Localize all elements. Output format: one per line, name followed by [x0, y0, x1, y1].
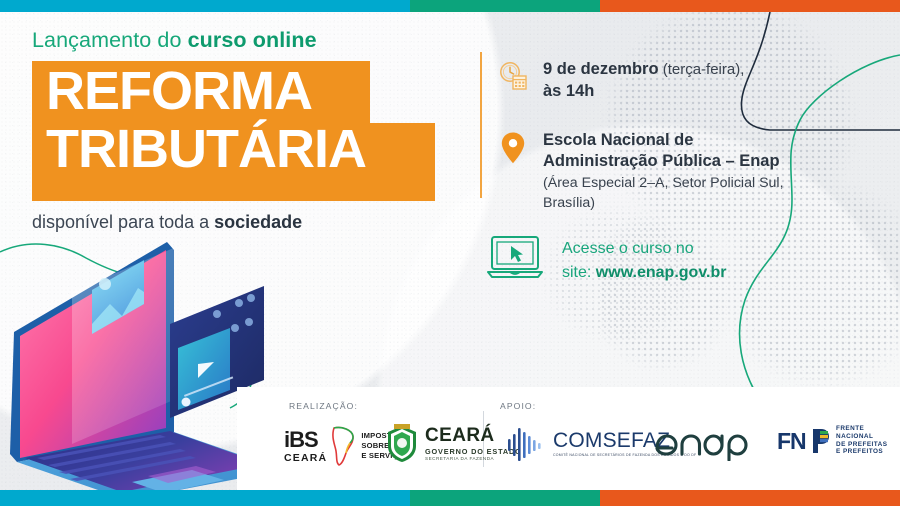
fnp-tagline: FRENTE NACIONAL DE PREFEITAS E PREFEITOS	[836, 425, 887, 456]
svg-text:FN: FN	[777, 428, 806, 454]
course-access-text: Acesse o curso no site: www.enap.gov.br	[562, 237, 726, 283]
kicker-regular: Lançamento do	[32, 28, 188, 52]
strip-segment-cyan	[0, 0, 410, 12]
map-pin-icon	[496, 129, 530, 169]
fnp-tagline-line3: DE PREFEITAS	[836, 441, 887, 449]
access-site-prefix: site:	[562, 264, 596, 281]
bottom-color-strip	[0, 490, 900, 506]
event-date-weekday: (terça-feira),	[659, 61, 745, 78]
event-date-bold: 9 de dezembro	[543, 60, 659, 78]
footer-panel: REALIZAÇÃO: APOIO: iBS CEARÁ IMPOSTO SOB…	[237, 387, 900, 490]
venue-address-line2: Brasília)	[543, 194, 784, 213]
event-venue-row: Escola Nacional de Administração Pública…	[496, 129, 888, 214]
access-line2: site: www.enap.gov.br	[562, 261, 726, 284]
event-venue-text: Escola Nacional de Administração Pública…	[543, 129, 784, 214]
venue-address-line1: (Área Especial 2–A, Setor Policial Sul,	[543, 174, 784, 193]
venue-line1: Escola Nacional de	[543, 130, 784, 152]
page-title-line2: TRIBUTÁRIA	[46, 122, 366, 176]
subline-text: disponível para toda a sociedade	[32, 212, 452, 233]
headline-block: Lançamento do curso online REFORMA TRIBU…	[32, 28, 452, 233]
clock-calendar-icon	[496, 58, 530, 98]
strip-segment-orange	[600, 0, 900, 12]
enap-wordmark-icon	[652, 429, 750, 461]
strip-segment-teal	[410, 0, 600, 12]
title-orange-blocks: REFORMA TRIBUTÁRIA	[32, 61, 452, 201]
event-date-row: 9 de dezembro (terça-feira), às 14h	[496, 58, 888, 103]
laptop-cursor-icon	[486, 234, 546, 287]
realizacao-label: REALIZAÇÃO:	[289, 401, 358, 411]
bottom-strip-segment-orange	[600, 490, 900, 506]
fnp-logo[interactable]: FN FRENTE NACIONAL DE PREFEITAS E PREFEI…	[777, 425, 887, 456]
top-color-strip	[0, 0, 900, 12]
subline-bold: sociedade	[214, 212, 302, 232]
ceara-state-outline-icon	[330, 425, 356, 467]
course-access-row: Acesse o curso no site: www.enap.gov.br	[486, 234, 726, 287]
promotional-banner: Lançamento do curso online REFORMA TRIBU…	[0, 0, 900, 506]
event-info-list: 9 de dezembro (terça-feira), às 14h Esco…	[496, 58, 888, 213]
title-block-row2: TRIBUTÁRIA	[32, 123, 435, 201]
fnp-tagline-line4: E PREFEITOS	[836, 448, 887, 456]
title-block-row1: REFORMA	[32, 61, 370, 123]
page-title-line1: REFORMA	[46, 64, 312, 118]
fnp-tagline-line2: NACIONAL	[836, 433, 887, 441]
access-line1: Acesse o curso no	[562, 237, 726, 260]
venue-line2: Administração Pública – Enap	[543, 151, 784, 173]
enap-logo[interactable]	[652, 429, 750, 461]
fnp-tagline-line1: FRENTE	[836, 425, 887, 433]
ibs-main-text: iBS	[284, 429, 327, 451]
ibs-sub-text: CEARÁ	[284, 453, 327, 464]
ceara-coat-of-arms-icon	[385, 424, 419, 464]
event-date-text: 9 de dezembro (terça-feira), às 14h	[543, 58, 744, 103]
kicker-bold: curso online	[188, 28, 317, 52]
course-url[interactable]: www.enap.gov.br	[596, 264, 727, 281]
subline-regular: disponível para toda a	[32, 212, 214, 232]
event-time: às 14h	[543, 81, 744, 103]
apoio-label: APOIO:	[500, 401, 536, 411]
event-date-line1: 9 de dezembro (terça-feira),	[543, 59, 744, 81]
comsefaz-soundwave-icon	[504, 423, 548, 465]
bottom-strip-segment-teal	[410, 490, 600, 506]
kicker-text: Lançamento do curso online	[32, 28, 452, 53]
ibs-wordmark: iBS CEARÁ	[284, 429, 327, 464]
ceara-governo-logo[interactable]: CEARÁ GOVERNO DO ESTADO SECRETARIA DA FA…	[385, 424, 522, 464]
bottom-strip-segment-cyan	[0, 490, 410, 506]
vertical-orange-divider	[480, 52, 482, 198]
fnp-monogram-icon: FN	[777, 426, 831, 456]
